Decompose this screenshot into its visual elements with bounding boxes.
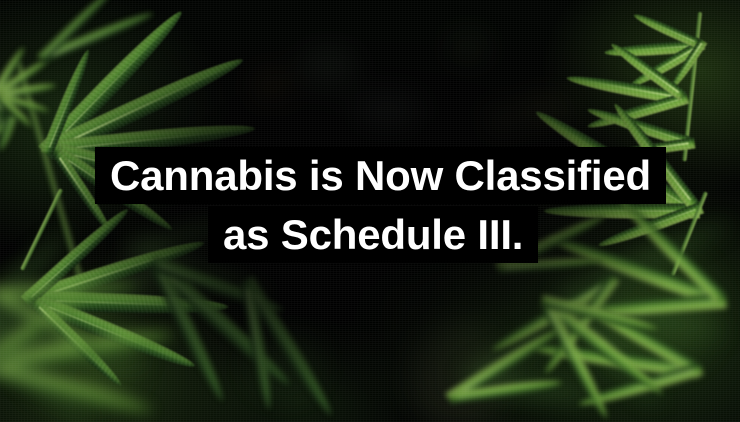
banner-image: Cannabis is Now Classified as Schedule I… bbox=[0, 0, 740, 422]
headline-line-1: Cannabis is Now Classified bbox=[95, 147, 666, 204]
headline-line-2: as Schedule III. bbox=[208, 206, 538, 263]
headline-line-1-row: Cannabis is Now Classified bbox=[0, 147, 740, 204]
headline-line-2-row: as Schedule III. bbox=[0, 206, 740, 263]
headline-block: Cannabis is Now Classified as Schedule I… bbox=[0, 147, 740, 263]
